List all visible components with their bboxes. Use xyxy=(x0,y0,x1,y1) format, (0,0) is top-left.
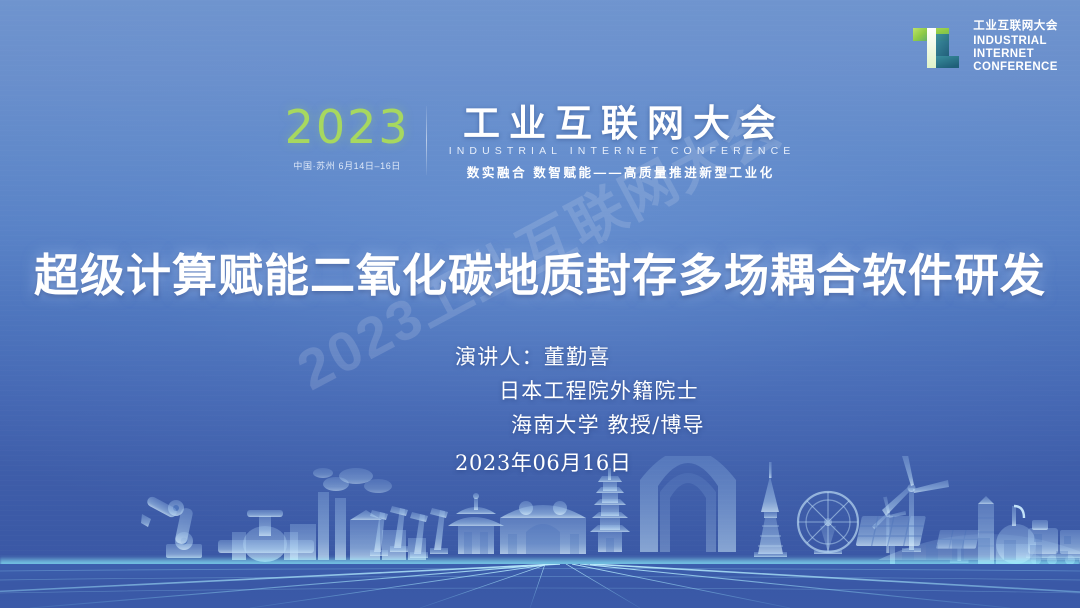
horizon-glow-line xyxy=(0,556,1080,572)
chinese-pavilion-icon xyxy=(448,493,504,554)
solar-panel-icon xyxy=(856,516,926,566)
wind-turbine-icon xyxy=(872,497,906,553)
speaker-affiliation-line: 日本工程院外籍院士 xyxy=(455,374,705,408)
conference-lockup: 2023 中国·苏州 6月14日–16日 工业互联网大会 INDUSTRIAL … xyxy=(0,104,1080,181)
conference-logo-text: 工业互联网大会 INDUSTRIAL INTERNET CONFERENCE xyxy=(973,20,1058,74)
gate-building-icon xyxy=(500,501,586,554)
conference-logo-mark-icon xyxy=(911,20,963,74)
pagoda-icon xyxy=(590,468,630,552)
oil-pumpjack-icon xyxy=(370,506,448,558)
robot-arm-icon xyxy=(141,495,202,558)
storage-tank-icon xyxy=(978,496,1036,564)
logo-name-en-line3: CONFERENCE xyxy=(973,61,1058,74)
wind-turbine-icon xyxy=(882,456,949,552)
lockup-name-block: 工业互联网大会 INDUSTRIAL INTERNET CONFERENCE 数… xyxy=(427,104,796,181)
conference-name-cn: 工业互联网大会 xyxy=(454,104,785,144)
speaker-position-line: 海南大学 教授/博导 xyxy=(455,408,705,442)
logo-name-en-line1: INDUSTRIAL xyxy=(973,35,1058,48)
conference-logo: 工业互联网大会 INDUSTRIAL INTERNET CONFERENCE xyxy=(911,20,1058,74)
speaker-name-line: 演讲人：董勤喜 xyxy=(455,340,705,374)
airport-terminal-icon xyxy=(878,534,1080,560)
ferris-wheel-icon xyxy=(798,492,858,554)
perspective-ground-plane xyxy=(0,564,1080,608)
gate-of-the-orient-icon xyxy=(640,456,736,552)
conference-location-date: 中国·苏州 6月14日–16日 xyxy=(293,159,401,172)
conference-slogan: 数实融合 数智赋能——高质量推进新型工业化 xyxy=(464,162,775,181)
presentation-date: 2023年06月16日 xyxy=(455,447,632,477)
speaker-info: 演讲人：董勤喜 日本工程院外籍院士 海南大学 教授/博导 xyxy=(455,340,705,442)
logo-name-en-line2: INTERNET xyxy=(973,48,1058,61)
factory-smokestack-icon xyxy=(290,468,426,560)
tv-tower-icon xyxy=(754,462,787,557)
conference-year: 2023 xyxy=(285,104,410,150)
freight-train-icon xyxy=(1026,520,1080,565)
solar-panel-icon xyxy=(936,530,980,563)
logo-name-cn: 工业互联网大会 xyxy=(973,20,1058,33)
presentation-slide: 2023工业互联网大会 xyxy=(0,0,1080,608)
conference-name-en: INDUSTRIAL INTERNET CONFERENCE xyxy=(444,145,796,157)
lockup-year-block: 2023 中国·苏州 6月14日–16日 xyxy=(285,104,426,172)
slide-title: 超级计算赋能二氧化碳地质封存多场耦合软件研发 xyxy=(0,248,1080,304)
pipe-valve-icon xyxy=(218,510,314,562)
